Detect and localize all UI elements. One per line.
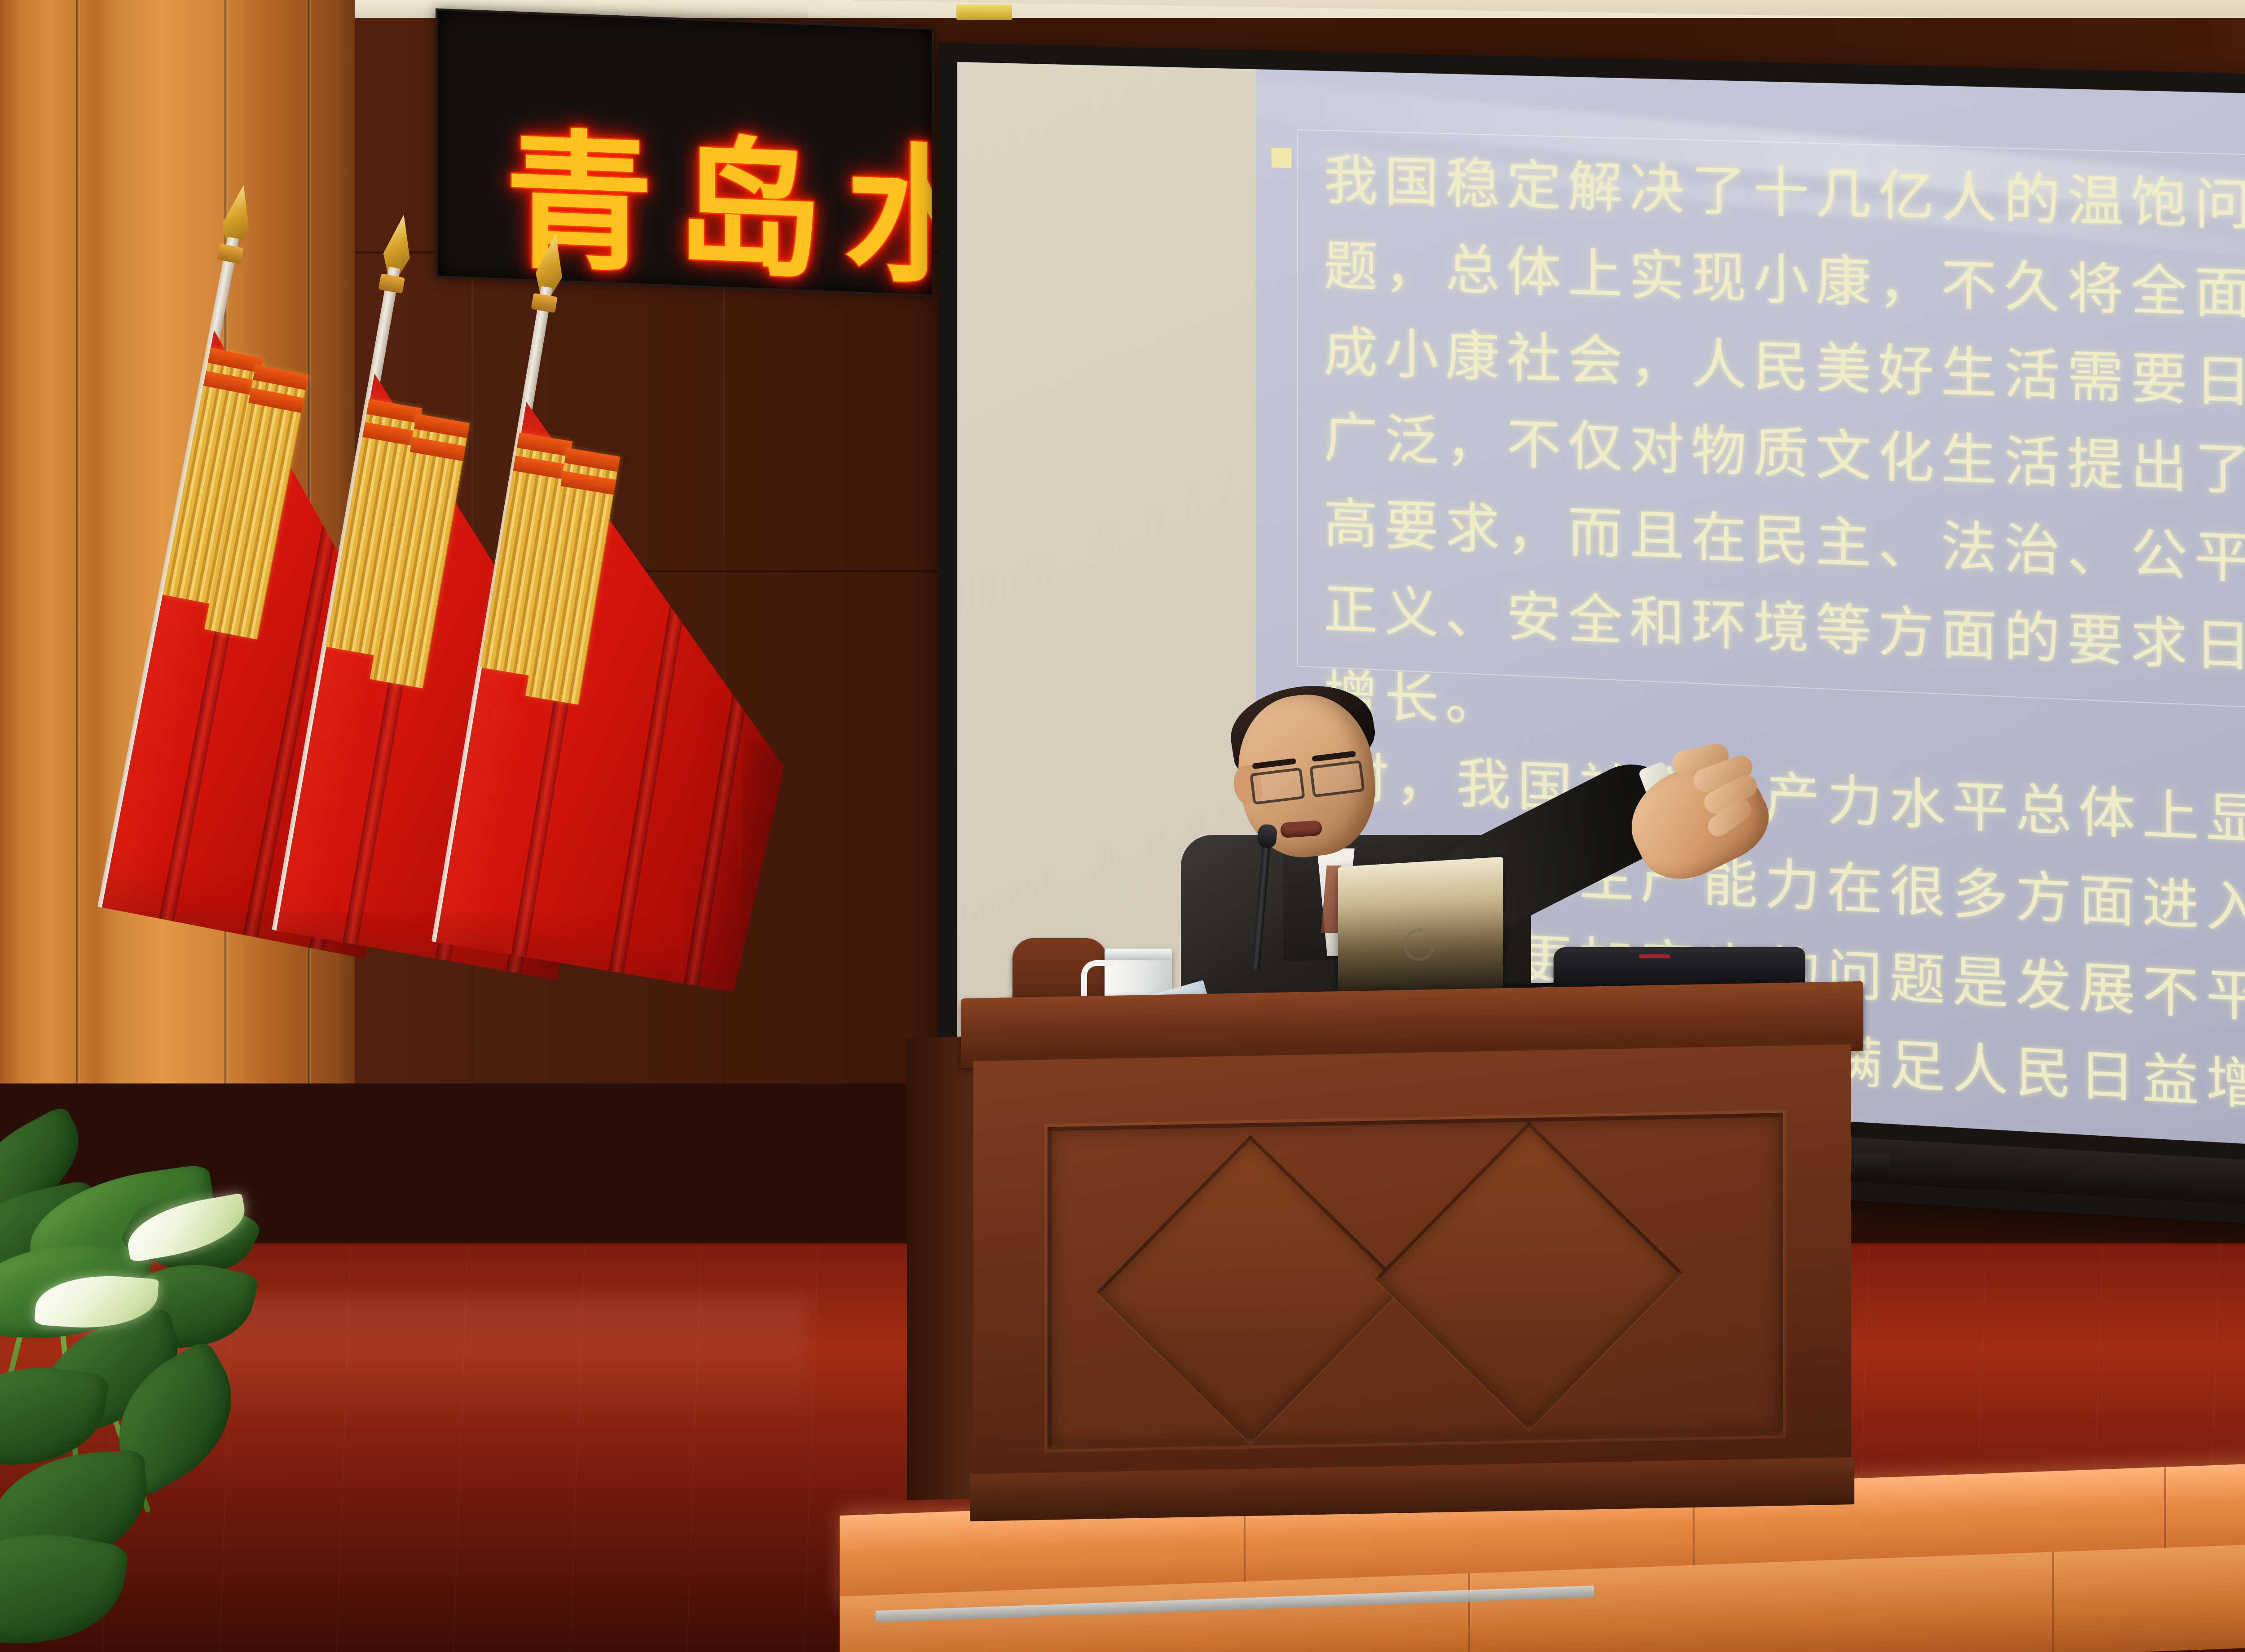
lectern-diamond-carving (1374, 1121, 1683, 1430)
potted-plant (0, 1113, 278, 1652)
mug-lid (1105, 949, 1172, 960)
lectern-front-panel (973, 1044, 1851, 1515)
bag-zipper-pull (1639, 954, 1670, 958)
led-sign-left-text: 青岛水务 (505, 81, 934, 297)
equipment-label-tag (956, 4, 1012, 20)
conference-hall-scene: 青岛水务 神宣讲会 我国稳定解决了十几亿人的温饱问题，总体上实现小康，不久将全面… (0, 0, 2245, 1652)
lectern-side-panel (907, 1036, 981, 1500)
led-sign-left: 青岛水务 (436, 9, 934, 297)
laptop-logo-icon (1397, 922, 1441, 967)
presenter-mouth (1280, 820, 1322, 838)
lectern (961, 990, 1863, 1524)
lectern-inset-frame (1048, 1113, 1783, 1449)
laptop (1338, 857, 1503, 998)
slide-bullet-icon (1272, 148, 1292, 168)
microphone-head-icon (1257, 824, 1277, 848)
slide-textbox: 我国稳定解决了十几亿人的温饱问题，总体上实现小康，不久将全面建成小康社会，人民美… (1297, 129, 2245, 712)
lectern-diamond-carving (1096, 1135, 1404, 1443)
